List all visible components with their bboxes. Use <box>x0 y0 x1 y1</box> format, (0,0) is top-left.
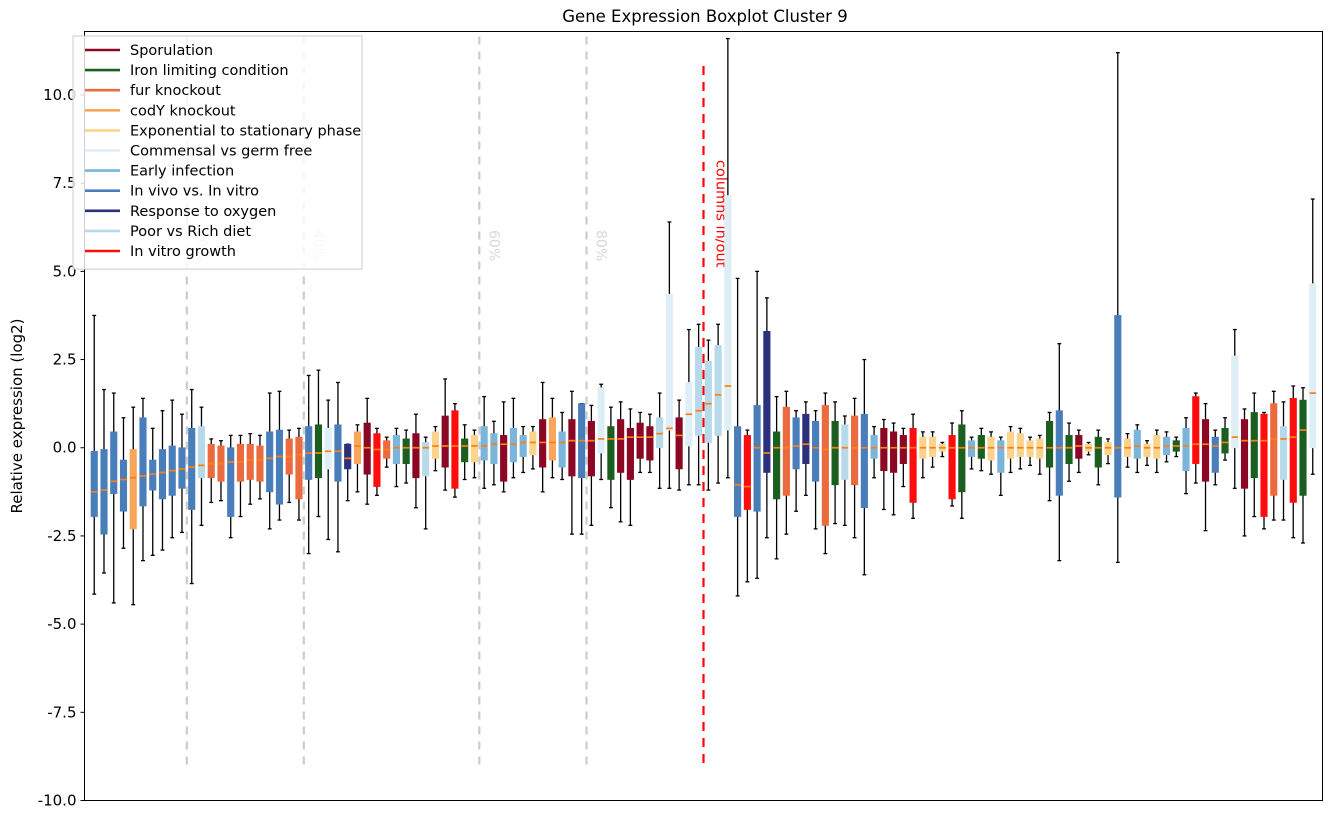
box-rect <box>471 435 477 461</box>
box-rect <box>998 441 1004 473</box>
box-rect <box>588 421 594 476</box>
box-rect <box>520 435 526 456</box>
box-rect <box>530 432 536 455</box>
box-rect <box>461 439 467 462</box>
box-rect <box>1212 437 1218 472</box>
box-rect <box>1056 411 1062 496</box>
reference-line-label: 60% <box>485 230 501 261</box>
box-rect <box>374 434 380 487</box>
box-rect <box>754 405 760 511</box>
box-rect <box>637 423 643 458</box>
box-rect <box>413 434 419 478</box>
box-rect <box>793 418 799 469</box>
box-rect <box>1222 428 1228 453</box>
box-rect <box>315 425 321 478</box>
box-rect <box>354 432 360 464</box>
y-axis-label: Relative expression (log2) <box>8 318 26 513</box>
box-rect <box>403 439 409 464</box>
box-rect <box>569 420 575 476</box>
box-rect <box>861 414 867 507</box>
box-rect <box>890 432 896 473</box>
box-rect <box>734 427 740 517</box>
box-rect <box>1232 356 1238 448</box>
box-rect <box>1300 400 1306 495</box>
box-rect <box>988 437 994 460</box>
box-rect <box>968 441 974 457</box>
box-rect <box>617 420 623 473</box>
legend-label[interactable]: Iron limiting condition <box>130 63 289 79</box>
legend-label[interactable]: Exponential to stationary phase <box>130 123 361 139</box>
box-rect <box>647 427 653 461</box>
box-rect <box>335 425 341 481</box>
box-rect <box>1280 427 1286 480</box>
box-rect <box>1066 435 1072 463</box>
y-tick-label: 0.0 <box>53 439 77 457</box>
box-rect <box>549 418 555 460</box>
y-tick-label: -7.5 <box>47 703 76 721</box>
legend-label[interactable]: Commensal vs germ free <box>130 144 312 160</box>
box-rect <box>822 405 828 525</box>
box-rect <box>783 407 789 495</box>
box-rect <box>1183 428 1189 470</box>
boxplot-figure: Gene Expression Boxplot Cluster 9 Relati… <box>0 0 1331 817</box>
box-rect <box>1271 404 1277 496</box>
box-rect <box>510 428 516 462</box>
box-rect <box>159 450 165 499</box>
box-rect <box>812 421 818 481</box>
box-rect <box>1251 412 1257 477</box>
box-rect <box>1027 441 1033 457</box>
box-rect <box>773 432 779 499</box>
box-rect <box>764 331 770 472</box>
box-rect <box>393 435 399 463</box>
legend-label[interactable]: Sporulation <box>130 43 213 59</box>
boxplot-box <box>1261 412 1267 528</box>
box-rect <box>198 427 204 478</box>
box-rect <box>559 432 565 467</box>
box-rect <box>179 448 185 489</box>
reference-line-label: 80% <box>593 230 609 261</box>
legend-label[interactable]: In vitro growth <box>130 244 236 260</box>
box-rect <box>842 425 848 480</box>
box-rect <box>1261 414 1267 516</box>
box-rect <box>150 460 156 490</box>
box-rect <box>1193 397 1199 464</box>
box-rect <box>1037 439 1043 458</box>
box-rect <box>1202 420 1208 482</box>
box-rect <box>656 418 662 448</box>
box-rect <box>1134 430 1140 458</box>
box-rect <box>1154 435 1160 458</box>
box-rect <box>851 416 857 485</box>
box-rect <box>344 444 350 469</box>
chart-svg: Gene Expression Boxplot Cluster 9 Relati… <box>0 0 1331 817</box>
box-rect <box>598 388 604 453</box>
boxplot-box <box>910 414 916 518</box>
box-rect <box>1095 437 1101 467</box>
box-rect <box>1076 435 1082 458</box>
box-rect <box>695 347 701 435</box>
box-rect <box>237 444 243 481</box>
box-rect <box>803 414 809 463</box>
box-rect <box>1144 444 1150 456</box>
box-rect <box>1310 284 1316 448</box>
y-tick-label: -10.0 <box>38 792 77 810</box>
box-rect <box>325 428 331 469</box>
box-rect <box>978 435 984 458</box>
box-rect <box>676 418 682 469</box>
legend[interactable]: SporulationIron limiting conditionfur kn… <box>73 36 362 269</box>
legend-label[interactable]: In vivo vs. In vitro <box>130 184 259 200</box>
box-rect <box>871 435 877 458</box>
box-rect <box>666 294 672 430</box>
box-rect <box>481 427 487 461</box>
box-rect <box>276 430 282 504</box>
box-rect <box>725 196 731 431</box>
box-rect <box>1017 434 1023 457</box>
legend-label[interactable]: Response to oxygen <box>130 204 276 220</box>
box-rect <box>91 451 97 516</box>
box-rect <box>715 345 721 435</box>
y-tick-label: -5.0 <box>47 615 76 633</box>
box-rect <box>1241 420 1247 489</box>
box-rect <box>111 432 117 494</box>
box-rect <box>1115 315 1121 497</box>
box-rect <box>189 428 195 509</box>
box-rect <box>452 411 458 489</box>
box-rect <box>1046 421 1052 467</box>
box-rect <box>881 428 887 470</box>
box-rect <box>1290 398 1296 502</box>
legend-label[interactable]: Poor vs Rich diet <box>130 224 251 240</box>
y-tick-label: 2.5 <box>53 351 77 369</box>
legend-label[interactable]: fur knockout <box>130 83 221 99</box>
page-title: Gene Expression Boxplot Cluster 9 <box>562 7 847 26</box>
box-rect <box>539 420 545 468</box>
box-rect <box>101 450 107 535</box>
y-tick-label: -2.5 <box>47 527 76 545</box>
boxplot-box <box>374 428 380 495</box>
box-rect <box>500 435 506 481</box>
box-rect <box>705 361 711 442</box>
box-rect <box>608 427 614 480</box>
box-rect <box>1007 432 1013 458</box>
box-rect <box>130 450 136 529</box>
box-rect <box>296 437 302 499</box>
box-rect <box>432 432 438 458</box>
box-rect <box>744 435 750 509</box>
box-rect <box>832 421 838 484</box>
box-rect <box>120 460 126 511</box>
box-rect <box>910 428 916 502</box>
box-rect <box>929 437 935 456</box>
box-rect <box>208 444 214 478</box>
box-rect <box>1105 442 1111 454</box>
box-rect <box>228 448 234 517</box>
y-tick-label: 10.0 <box>43 86 76 104</box>
boxplot-box <box>949 423 955 506</box>
boxplot-box <box>452 404 458 497</box>
legend-label[interactable]: Early infection <box>130 164 234 180</box>
box-rect <box>257 446 263 481</box>
box-rect <box>364 423 370 474</box>
box-rect <box>266 432 272 492</box>
box-rect <box>247 444 253 479</box>
box-rect <box>627 428 633 479</box>
legend-label[interactable]: codY knockout <box>130 103 236 119</box>
box-rect <box>491 434 497 464</box>
box-rect <box>949 435 955 498</box>
box-rect <box>900 435 906 463</box>
box-rect <box>442 416 448 467</box>
box-rect <box>140 418 146 506</box>
box-rect <box>959 425 965 492</box>
